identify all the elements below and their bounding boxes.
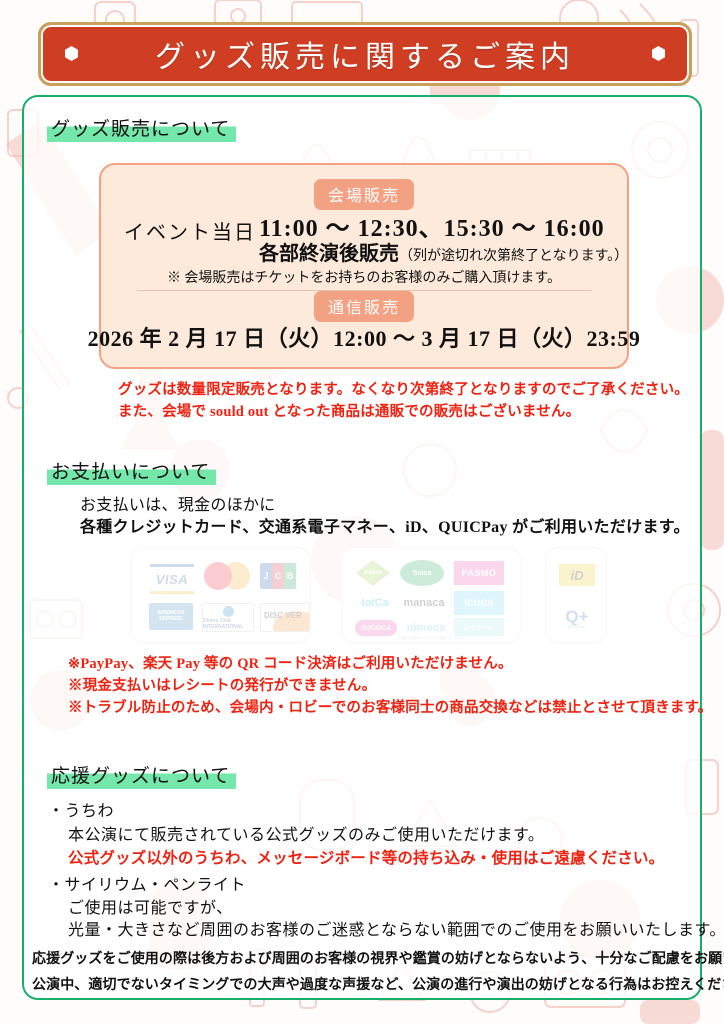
- cheer-item-1-red-line: 公式グッズ以外のうちわ、メッセージボード等の持ち込み・使用はご遠慮ください。: [68, 846, 664, 868]
- cheer-item-1-bullet: ・うちわ: [48, 797, 114, 821]
- payment-line-2: 各種クレジットカード、交通系電子マネー、iD、QUICPay がご利用いただけま…: [80, 513, 690, 537]
- badge-venue-sales: 会場販売: [314, 179, 414, 210]
- badge-mail-order: 通信販売: [314, 291, 414, 322]
- payment-line-1: お支払いは、現金のほかに: [80, 491, 276, 515]
- hexagon-dot-right-icon: [652, 46, 665, 61]
- footer-line-1: 応援グッズをご使用の際は後方および周囲のお客様の視界や鑑賞の妨げとならないよう、…: [32, 948, 724, 968]
- goods-red-note-2: また、会場で sould out となった商品は通販での販売はございません。: [118, 400, 580, 421]
- post-show-sales-note: （列が途切れ次第終了となります。）: [399, 249, 628, 264]
- cheer-item-1-line-1: 本公演にて販売されている公式グッズのみご使用いただけます。: [68, 821, 544, 845]
- post-show-sales-line: 各部終演後販売（列が途切れ次第終了となります。）: [259, 237, 628, 266]
- post-show-sales-main: 各部終演後販売: [259, 243, 399, 265]
- page-title-banner: グッズ販売に関するご案内: [38, 22, 692, 86]
- payment-red-note-2: ※現金支払いはレシートの発行ができません。: [68, 674, 376, 695]
- page-title: グッズ販売に関するご案内: [155, 32, 575, 76]
- section-heading-payment: お支払いについて: [47, 457, 216, 485]
- section-heading-cheer-goods: 応援グッズについて: [47, 761, 236, 789]
- payment-red-note-1: ※PayPay、楽天 Pay 等の QR コード決済はご利用いただけません。: [68, 652, 513, 673]
- cheer-item-2-line-2: 光量・大きさなど周囲のお客様のご迷惑とならない範囲でのご使用をお願いいたします。: [68, 916, 724, 940]
- hexagon-dot-left-icon: [65, 46, 78, 61]
- footer-line-2: 公演中、適切でないタイミングでの大声や過度な声援など、公演の進行や演出の妨げとな…: [32, 974, 724, 994]
- venue-sales-ticket-note: ※ 会場販売はチケットをお持ちのお客様のみご購入頂けます。: [137, 267, 591, 291]
- cheer-item-2-line-1: ご使用は可能ですが、: [68, 894, 233, 918]
- mail-order-period: 2026 年 2 月 17 日（火）12:00 〜 3 月 17 日（火）23:…: [88, 321, 641, 353]
- sales-schedule-box: 会場販売 イベント当日 11:00 〜 12:30、15:30 〜 16:00 …: [99, 163, 629, 369]
- goods-red-note-1: グッズは数量限定販売となります。なくなり次第終了となりますのでご了承ください。: [118, 378, 689, 399]
- payment-red-note-3: ※トラブル防止のため、会場内・ロビーでのお客様同士の商品交換などは禁止とさせて頂…: [68, 696, 712, 717]
- event-day-label: イベント当日: [124, 216, 256, 245]
- section-heading-goods-sales: グッズ販売について: [47, 114, 236, 142]
- cheer-item-2-bullet: ・サイリウム・ペンライト: [48, 871, 246, 895]
